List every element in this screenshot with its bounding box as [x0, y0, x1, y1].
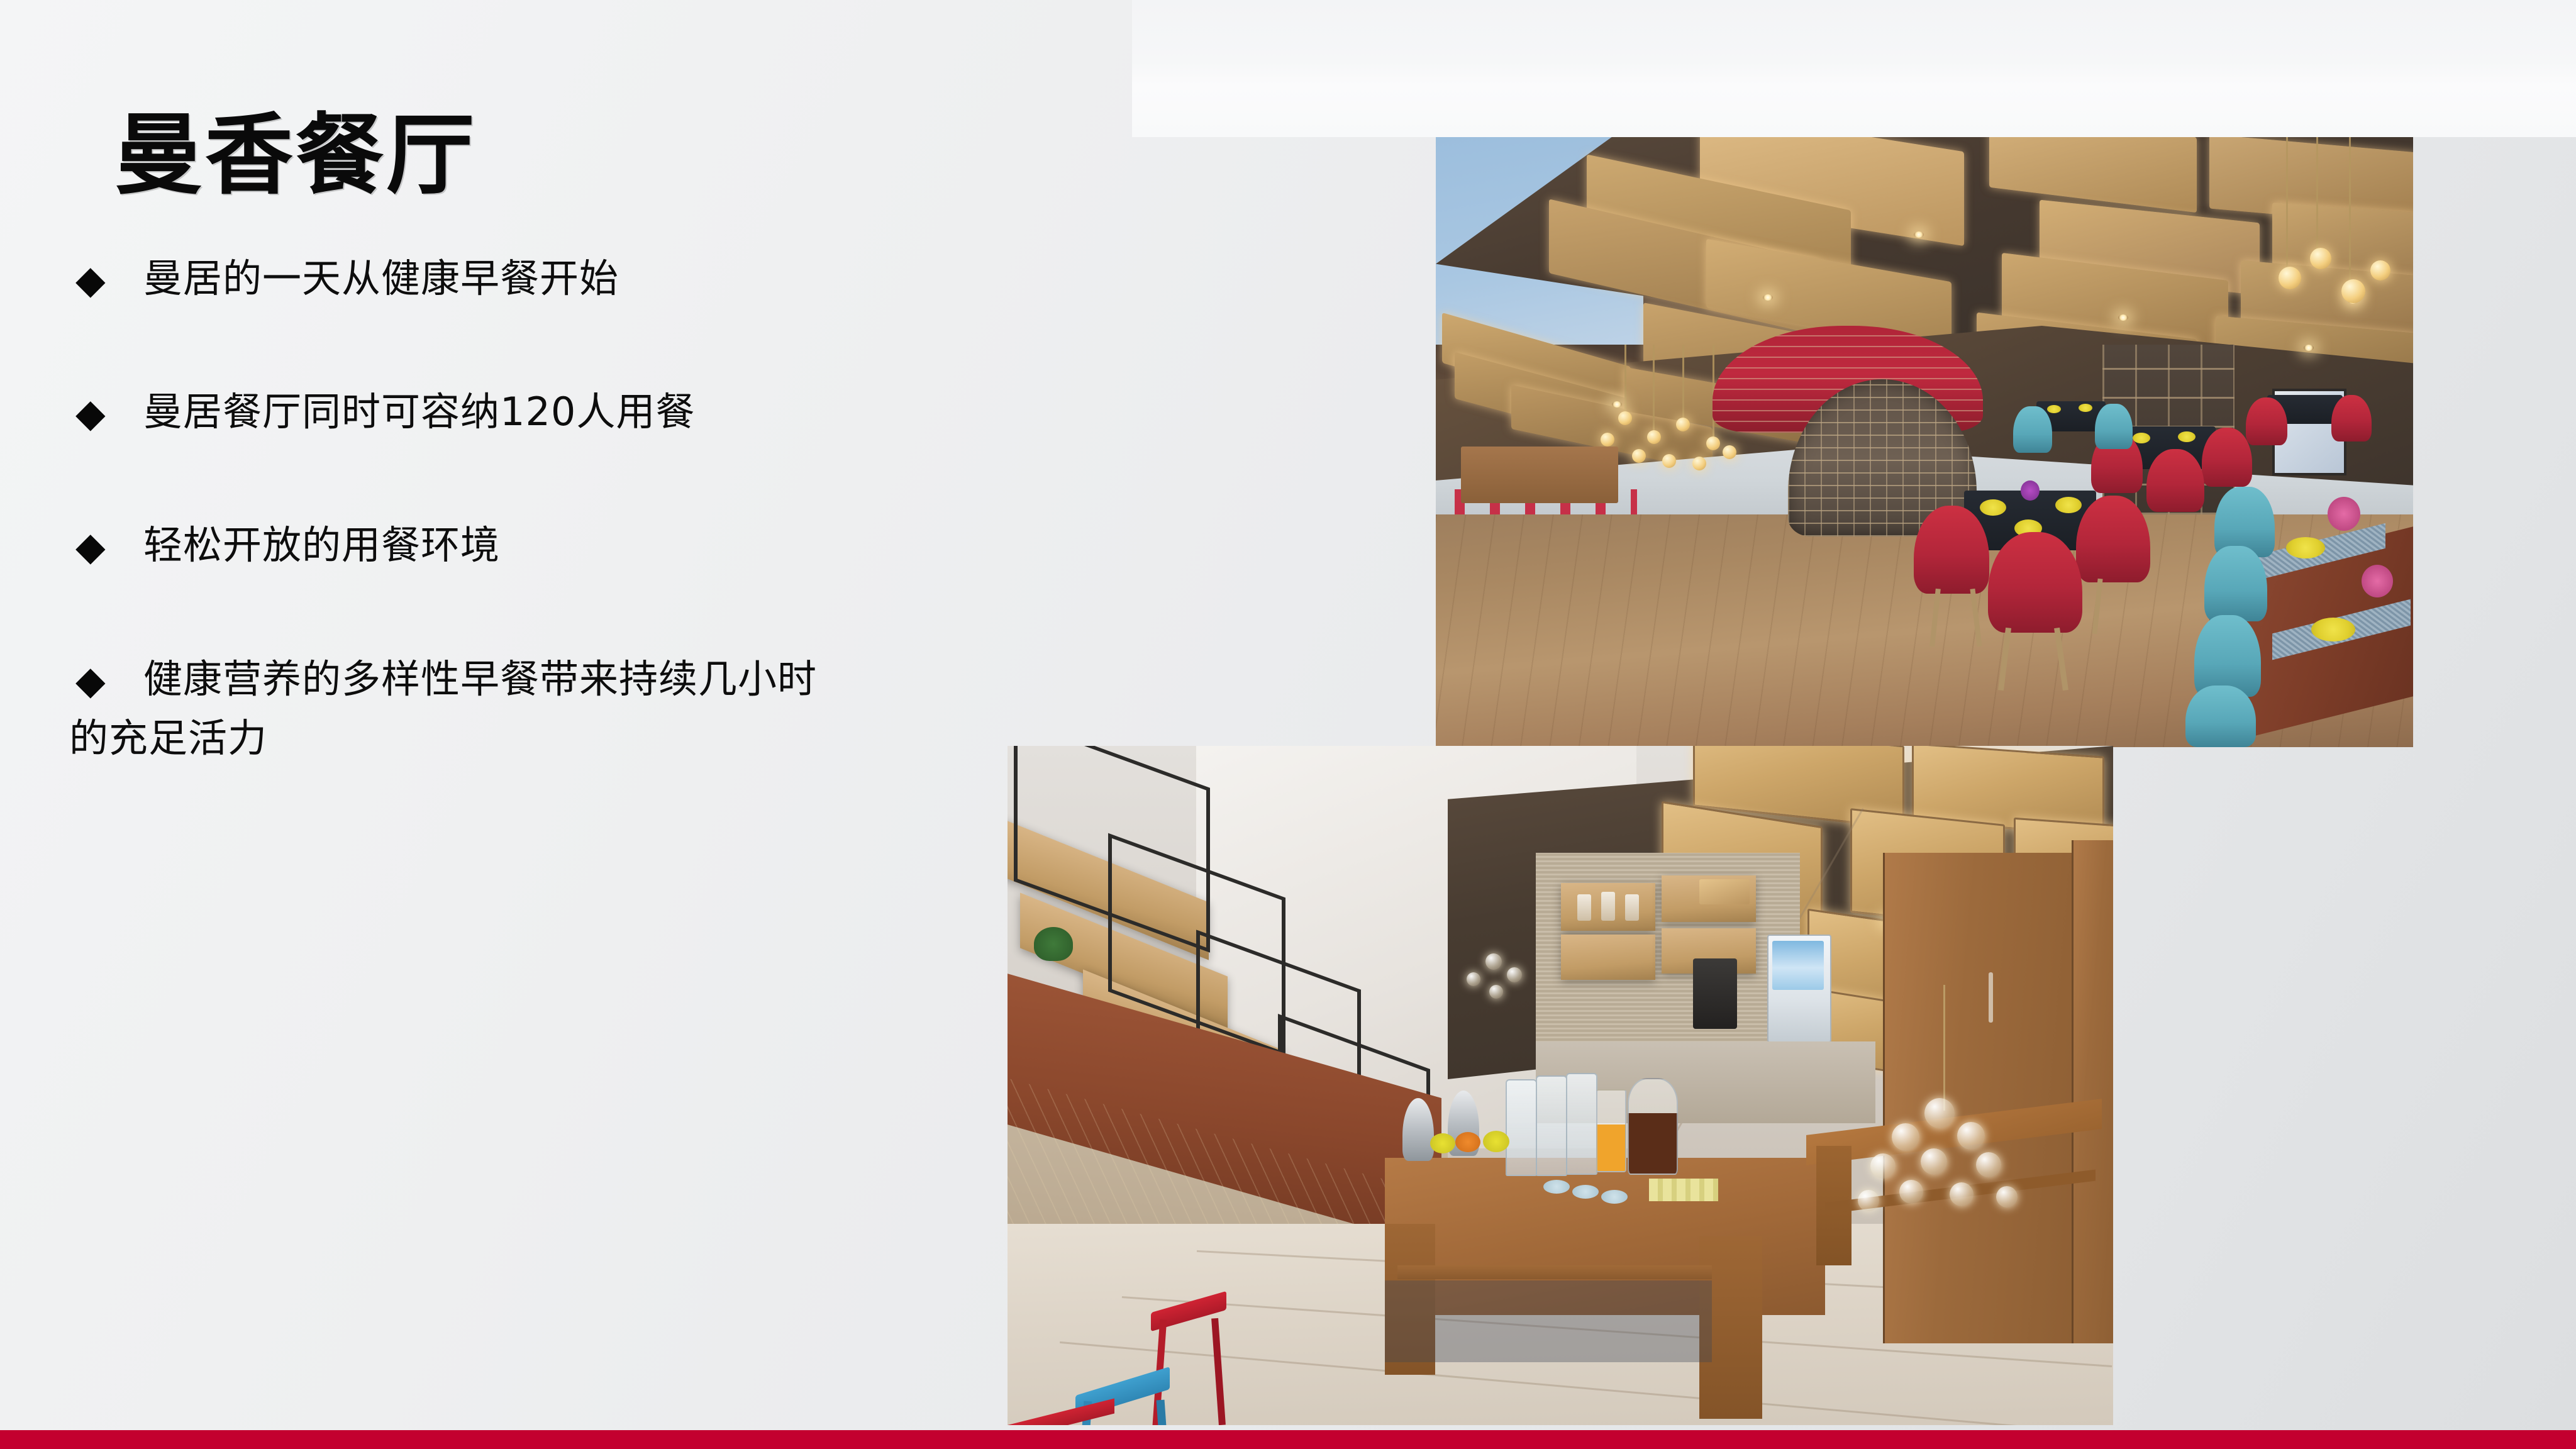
door-handle: [1989, 972, 1993, 1023]
glass-globe: [1467, 972, 1480, 986]
pendant-bulb: [1692, 457, 1706, 470]
pendant-bulb: [1676, 418, 1690, 431]
ceiling-spotlight: [1914, 231, 1924, 238]
pendant-bulb: [1706, 436, 1720, 450]
wall-shelf-box: [1561, 935, 1655, 980]
yellow-plate: [2286, 537, 2325, 558]
buffet-shadow: [1385, 1280, 1712, 1362]
yellow-plate: [2178, 431, 2196, 442]
red-armchair: [2331, 395, 2372, 441]
coffee-machine: [1693, 958, 1737, 1029]
top-decorative-panel: [1132, 0, 2576, 137]
red-armchair: [2246, 397, 2287, 445]
yellow-plate: [2055, 497, 2082, 513]
teal-chair: [2095, 404, 2133, 449]
wood-wall-panel: [2072, 840, 2113, 1343]
teal-chair: [2204, 546, 2267, 621]
list-item: ◆ 轻松开放的用餐环境: [69, 516, 1063, 575]
glass-globe: [1507, 967, 1522, 982]
chandelier-rod: [1943, 985, 1945, 1111]
ceiling-spotlight: [2304, 345, 2314, 351]
glass-globe: [1870, 1153, 1896, 1179]
fruit-bowl: [1430, 1133, 1455, 1153]
diamond-bullet-icon: ◆: [75, 260, 106, 299]
glass-globe: [1489, 985, 1503, 999]
pendant-bulb: [1662, 454, 1676, 468]
globe-pendant: [2341, 279, 2365, 303]
glass-globe: [1892, 1123, 1919, 1151]
restaurant-dining-hall-photo: [1436, 137, 2413, 747]
pendant-cord: [1653, 345, 1655, 433]
pendant-cord: [1682, 345, 1684, 420]
diamond-bullet-icon: ◆: [75, 661, 106, 700]
footer-accent-bar: [0, 1430, 2576, 1449]
beverage-dispenser: [1628, 1078, 1678, 1175]
pendant-bulb: [1632, 449, 1646, 463]
serving-bowl: [1572, 1185, 1599, 1199]
breakfast-buffet-photo: [1008, 746, 2113, 1425]
yellow-plate: [1980, 499, 2006, 516]
red-armchair: [1914, 506, 1989, 594]
red-armchair: [2146, 449, 2204, 512]
list-item: ◆ 健康营养的多样性早餐带来持续几小时 的充足活力: [69, 650, 1063, 768]
yellow-plate: [2133, 433, 2150, 443]
pendant-cord: [2286, 137, 2288, 269]
glass-jar: [1601, 892, 1615, 921]
list-item-label: 健康营养的多样性早餐带来持续几小时 的充足活力: [143, 650, 1063, 768]
decorative-plant: [1034, 927, 1073, 961]
pendant-bulb: [1647, 430, 1661, 444]
buffet-lower-shelf: [1397, 1265, 1712, 1279]
ceiling-spotlight: [1612, 401, 1622, 408]
wood-door-panel: [1883, 853, 2074, 1343]
decorative-wooden-cart: [1699, 879, 1750, 904]
table-flowers: [2362, 565, 2393, 597]
list-item-label: 曼居的一天从健康早餐开始: [143, 249, 1063, 308]
ceiling-spotlight: [1763, 294, 1773, 301]
glass-globe: [1924, 1098, 1955, 1128]
glass-jar: [1577, 894, 1591, 921]
ceiling-spotlight: [2118, 314, 2128, 321]
pendant-bulb: [1601, 433, 1614, 447]
yellow-plate: [2079, 404, 2092, 412]
serving-bowl: [1601, 1190, 1628, 1204]
glass-globe: [1485, 953, 1502, 970]
cereal-dispenser: [1566, 1073, 1597, 1175]
red-armchair: [2076, 496, 2150, 582]
pendant-cord: [2349, 137, 2351, 282]
glass-globe: [1858, 1190, 1879, 1211]
globe-pendant: [2279, 267, 2301, 289]
slide: 曼香餐厅 ◆ 曼居的一天从健康早餐开始 ◆ 曼居餐厅同时可容纳120人用餐 ◆ …: [0, 0, 2576, 1449]
serving-bowl: [1543, 1180, 1570, 1194]
glass-jar: [1625, 894, 1639, 921]
globe-pendant: [2310, 248, 2331, 269]
glass-globe: [1996, 1186, 2018, 1207]
teal-chair: [2013, 406, 2052, 453]
pendant-bulb: [1723, 445, 1736, 459]
fruit-bowl: [1483, 1131, 1509, 1152]
dispenser-label: [1772, 941, 1824, 990]
bullet-list: ◆ 曼居的一天从健康早餐开始 ◆ 曼居餐厅同时可容纳120人用餐 ◆ 轻松开放的…: [69, 249, 1063, 842]
list-item-label-line2: 的充足活力: [69, 709, 1063, 768]
list-item-label-line1: 健康营养的多样性早餐带来持续几小时: [143, 656, 817, 702]
pendant-bulb: [1618, 411, 1632, 425]
globe-pendant: [2370, 260, 2390, 280]
diamond-bullet-icon: ◆: [75, 527, 106, 566]
cereal-dispenser: [1536, 1075, 1567, 1176]
list-item: ◆ 曼居的一天从健康早餐开始: [69, 249, 1063, 308]
list-item-label: 曼居餐厅同时可容纳120人用餐: [143, 382, 1063, 441]
pendant-cord: [2316, 137, 2318, 250]
cereal-dispenser: [1506, 1079, 1537, 1176]
glass-globe: [1899, 1180, 1923, 1204]
glass-globe: [1921, 1148, 1947, 1175]
glass-globe: [1976, 1152, 2001, 1177]
glass-globe: [1950, 1182, 1974, 1206]
glass-globe: [1957, 1122, 1985, 1150]
service-counter: [1461, 447, 1618, 503]
fruit-bowl: [1455, 1132, 1480, 1152]
page-title: 曼香餐厅: [114, 112, 477, 200]
pendant-cord: [1624, 345, 1626, 414]
juice-dispenser: [1596, 1089, 1626, 1172]
red-armchair: [2202, 428, 2252, 487]
teal-chair: [2185, 686, 2256, 747]
teal-chair: [2194, 615, 2261, 697]
table-flowers: [2328, 497, 2360, 531]
diamond-bullet-icon: ◆: [75, 394, 106, 433]
yellow-plate: [2311, 618, 2355, 641]
condiment-tray: [1649, 1179, 1718, 1201]
table-flowers: [2021, 480, 2040, 501]
list-item-label: 轻松开放的用餐环境: [143, 516, 1063, 575]
yellow-plate: [2047, 405, 2061, 413]
list-item: ◆ 曼居餐厅同时可容纳120人用餐: [69, 382, 1063, 441]
